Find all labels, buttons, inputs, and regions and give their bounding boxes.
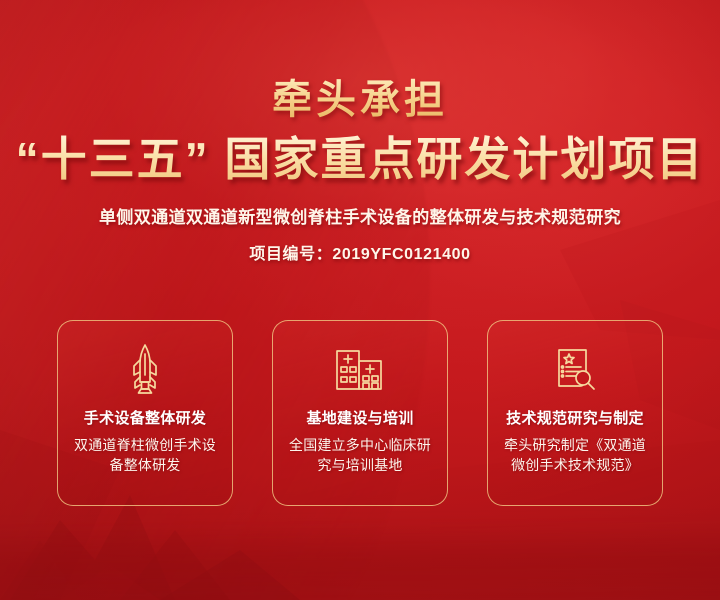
promo-banner: 牵头承担 “十三五” 国家重点研发计划项目 单侧双通道双通道新型微创脊柱手术设备… — [0, 0, 720, 600]
card-body: 牵头研究制定《双通道微创手术技术规范》 — [488, 435, 662, 476]
feature-card-list: 手术设备整体研发 双通道脊柱微创手术设备整体研发 — [57, 320, 663, 506]
rocket-icon — [123, 341, 167, 397]
feature-card-standard[interactable]: 技术规范研究与制定 牵头研究制定《双通道微创手术技术规范》 — [487, 320, 663, 506]
document-search-icon — [550, 341, 600, 397]
feature-card-equipment[interactable]: 手术设备整体研发 双通道脊柱微创手术设备整体研发 — [57, 320, 233, 506]
feature-card-base-training[interactable]: 基地建设与培训 全国建立多中心临床研究与培训基地 — [272, 320, 448, 506]
card-title: 技术规范研究与制定 — [506, 407, 644, 428]
card-title: 手术设备整体研发 — [84, 407, 206, 428]
card-body: 全国建立多中心临床研究与培训基地 — [273, 435, 447, 476]
card-title: 基地建设与培训 — [306, 407, 413, 428]
title-primary: 牵头承担 — [0, 78, 720, 123]
card-body: 双通道脊柱微创手术设备整体研发 — [58, 435, 232, 476]
title-secondary: “十三五” 国家重点研发计划项目 — [0, 133, 720, 185]
poster-header: 牵头承担 “十三五” 国家重点研发计划项目 单侧双通道双通道新型微创脊柱手术设备… — [0, 0, 720, 264]
project-number: 项目编号：2019YFC0121400 — [0, 240, 720, 264]
project-subtitle: 单侧双通道双通道新型微创脊柱手术设备的整体研发与技术规范研究 — [0, 203, 720, 228]
hospital-icon — [333, 341, 387, 397]
